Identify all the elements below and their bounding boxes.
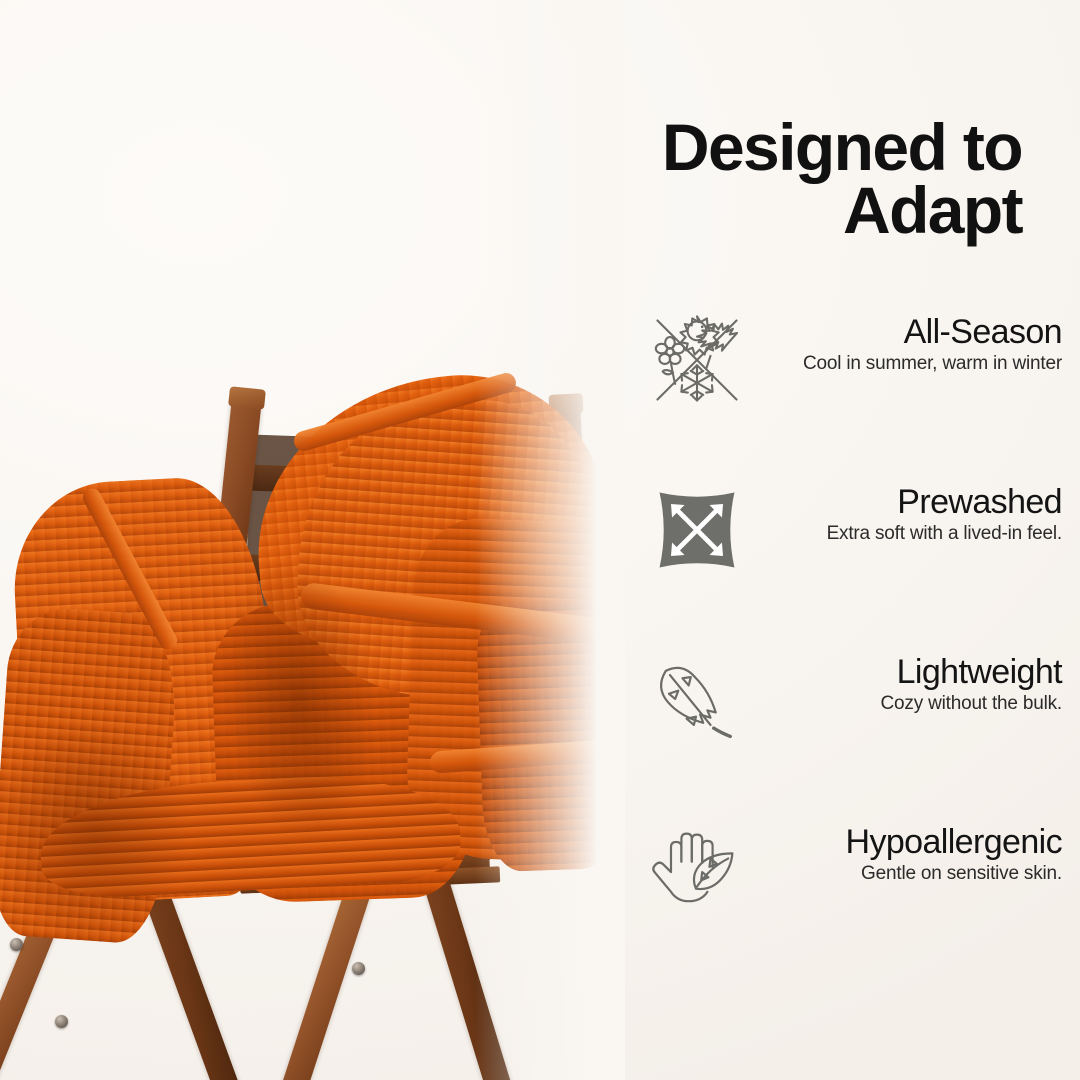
infographic-canvas: Designed to Adapt <box>0 0 1080 1080</box>
photo-edge-fade <box>475 0 625 1080</box>
feature-title: All-Season <box>760 314 1062 350</box>
feature-item-all-season[interactable]: All-Season Cool in summer, warm in winte… <box>620 300 1080 470</box>
feature-text: Lightweight Cozy without the bulk. <box>760 654 1062 715</box>
post-cap <box>228 386 266 410</box>
feature-text: All-Season Cool in summer, warm in winte… <box>760 314 1062 375</box>
headline-line-2: Adapt <box>622 179 1022 242</box>
chair-pivot-bolt <box>352 962 365 975</box>
feature-item-lightweight[interactable]: Lightweight Cozy without the bulk. <box>620 640 1080 810</box>
four-seasons-icon <box>645 308 749 412</box>
product-photo <box>0 0 625 1080</box>
feature-subtitle: Cool in summer, warm in winter <box>760 353 1062 375</box>
feature-subtitle: Extra soft with a lived-in feel. <box>760 523 1062 545</box>
chair-pivot-bolt <box>55 1015 68 1028</box>
hand-leaf-icon <box>645 818 749 922</box>
feature-subtitle: Cozy without the bulk. <box>760 693 1062 715</box>
feature-title: Lightweight <box>760 654 1062 690</box>
feature-list: All-Season Cool in summer, warm in winte… <box>620 300 1080 980</box>
page-title: Designed to Adapt <box>622 116 1022 241</box>
feature-text: Hypoallergenic Gentle on sensitive skin. <box>760 824 1062 885</box>
chair-pivot-bolt <box>10 938 23 951</box>
feature-text: Prewashed Extra soft with a lived-in fee… <box>760 484 1062 545</box>
feature-panel: Designed to Adapt <box>620 0 1080 1080</box>
feature-item-prewashed[interactable]: Prewashed Extra soft with a lived-in fee… <box>620 470 1080 640</box>
feature-subtitle: Gentle on sensitive skin. <box>760 863 1062 885</box>
feature-item-hypoallergenic[interactable]: Hypoallergenic Gentle on sensitive skin. <box>620 810 1080 980</box>
feature-title: Prewashed <box>760 484 1062 520</box>
feather-icon <box>645 648 749 752</box>
feature-title: Hypoallergenic <box>760 824 1062 860</box>
expand-arrows-fabric-icon <box>645 478 749 582</box>
